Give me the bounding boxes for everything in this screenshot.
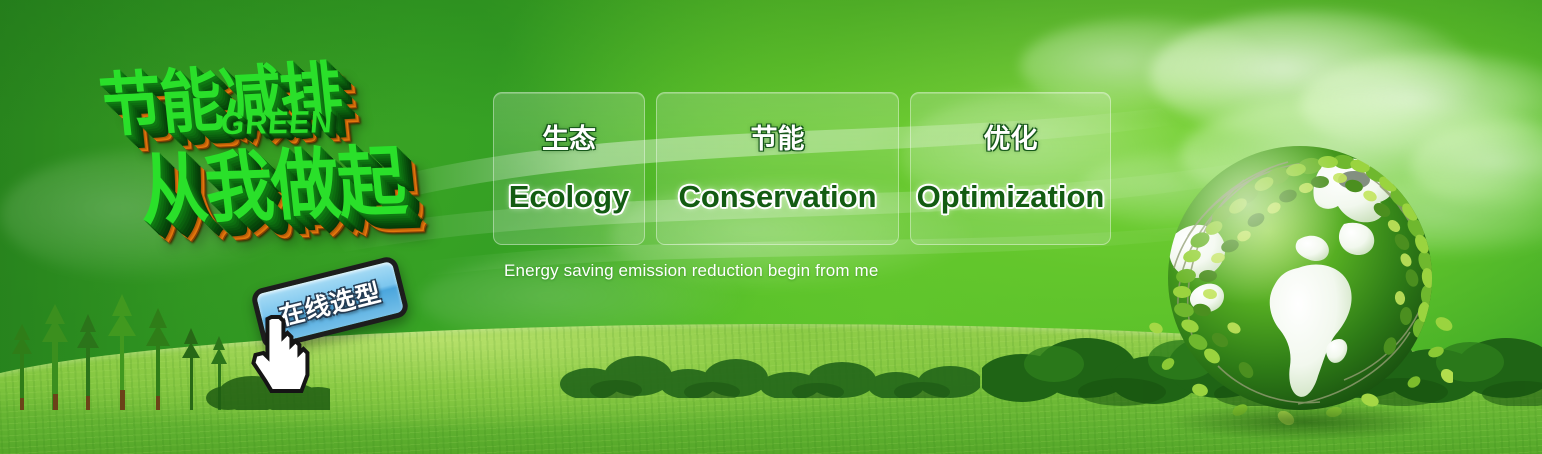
feature-card-en-label: Conservation — [678, 181, 876, 212]
eco-banner: 节能减排 GREEN 从我做起 生态 Ecology 节能 Conservati… — [0, 0, 1542, 454]
feature-card-cn-label: 节能 — [751, 126, 805, 153]
feature-card-cn-label: 优化 — [984, 126, 1038, 153]
feature-cards: 生态 Ecology 节能 Conservation 优化 Optimizati… — [493, 92, 1111, 245]
hand-pointer-icon — [245, 309, 319, 395]
feature-card-optimization[interactable]: 优化 Optimization — [910, 92, 1111, 245]
leafy-globe-icon — [1148, 128, 1453, 433]
feature-card-conservation[interactable]: 节能 Conservation — [656, 92, 899, 245]
banner-title: 节能减排 GREEN 从我做起 — [85, 19, 487, 287]
forest-icon — [560, 328, 980, 398]
title-accent-word: GREEN — [219, 105, 335, 142]
feature-card-en-label: Optimization — [917, 181, 1105, 212]
banner-subtitle: Energy saving emission reduction begin f… — [504, 261, 878, 281]
feature-card-cn-label: 生态 — [542, 126, 596, 153]
feature-card-en-label: Ecology — [509, 181, 630, 212]
feature-card-ecology[interactable]: 生态 Ecology — [493, 92, 645, 245]
